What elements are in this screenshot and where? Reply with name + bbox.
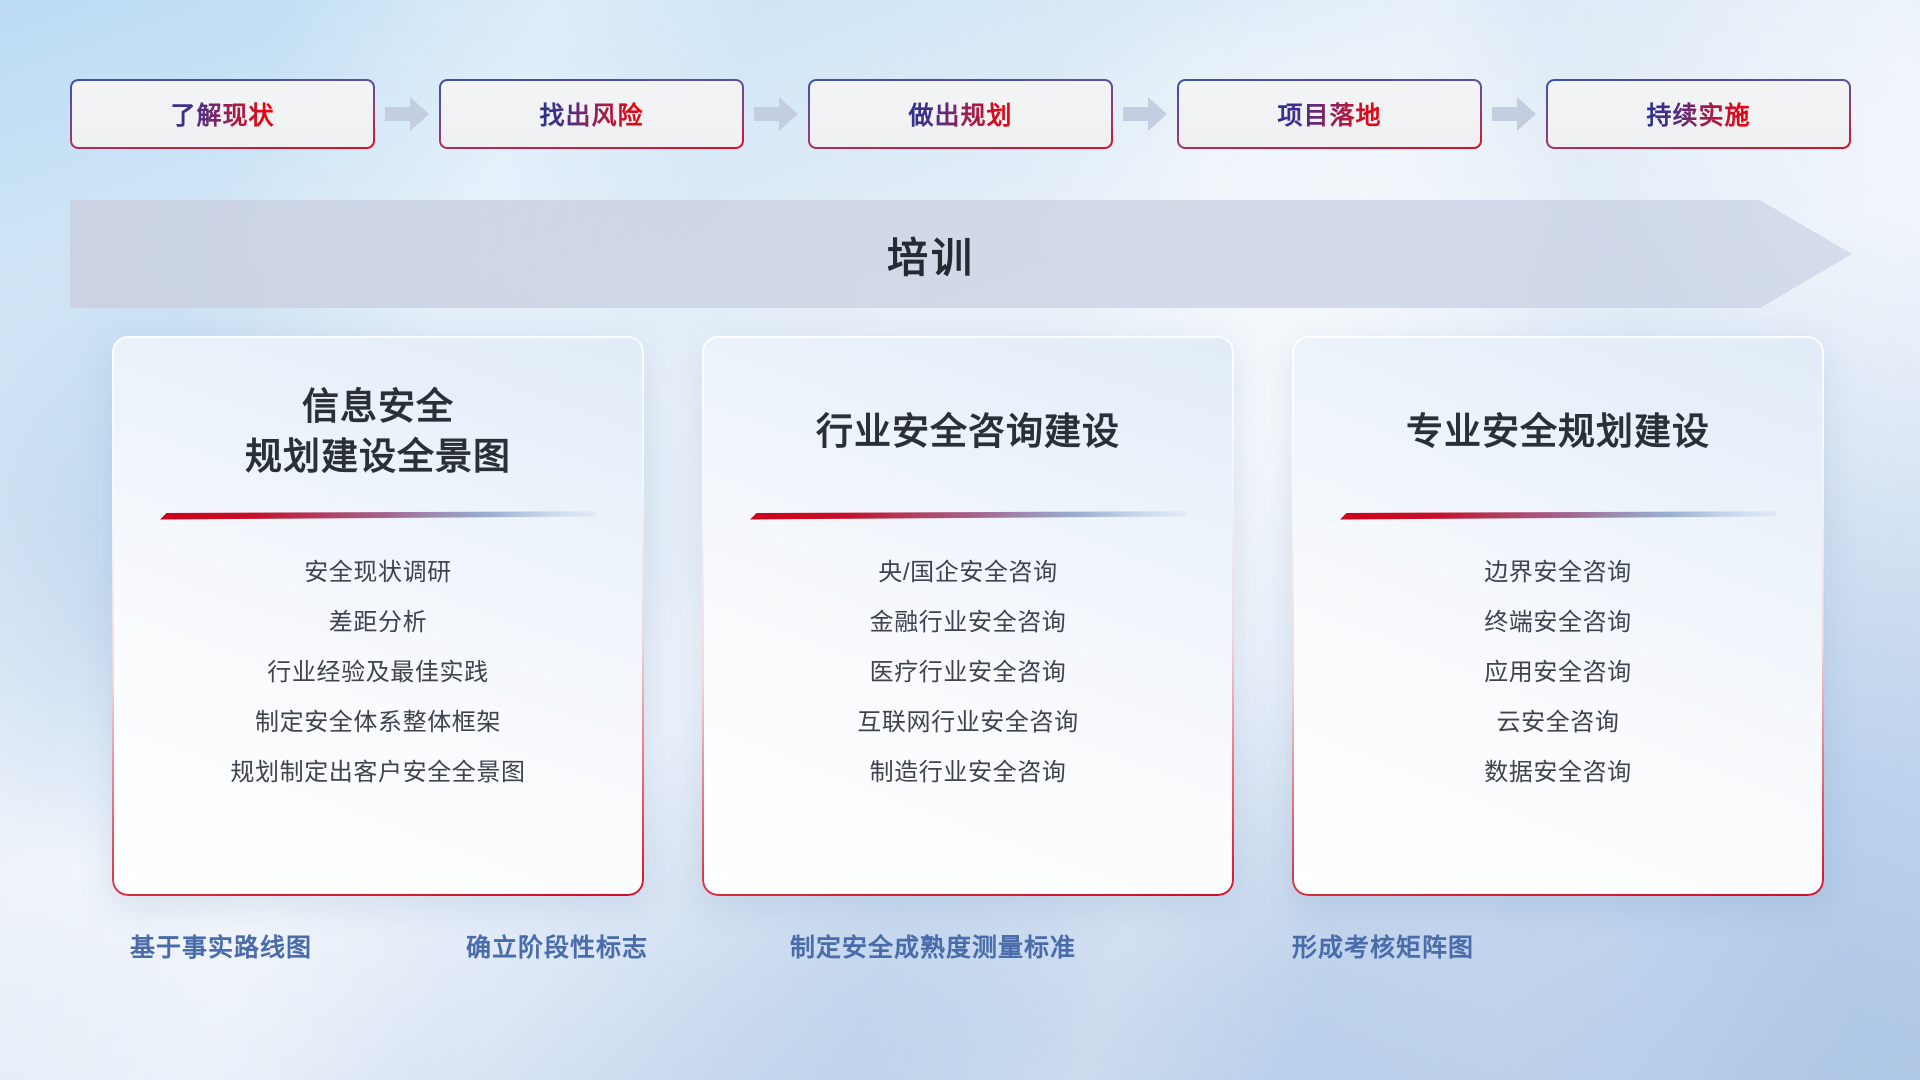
step-arrow-icon-1 bbox=[375, 94, 439, 134]
step-box-2[interactable]: 找出风险 bbox=[439, 79, 744, 149]
card-3[interactable]: 专业安全规划建设 边界安全咨询 bbox=[1292, 336, 1824, 896]
list-item: 金融行业安全咨询 bbox=[702, 598, 1234, 648]
step-label-1: 了解现状 bbox=[170, 96, 274, 132]
footer-label-2: 确立阶段性标志 bbox=[466, 928, 648, 964]
list-item: 应用安全咨询 bbox=[1292, 648, 1824, 698]
card-3-title: 专业安全规划建设 bbox=[1388, 382, 1728, 482]
step-arrow-icon-3 bbox=[1113, 94, 1177, 134]
card-1-title: 信息安全规划建设全景图 bbox=[227, 382, 529, 482]
process-step-row: 了解现状 找出风险 做出规划 项目落地 持续实施 bbox=[70, 78, 1850, 150]
list-item: 行业经验及最佳实践 bbox=[112, 648, 644, 698]
step-box-1[interactable]: 了解现状 bbox=[70, 79, 375, 149]
card-2[interactable]: 行业安全咨询建设 央/国企安全咨询 bbox=[702, 336, 1234, 896]
step-arrow-icon-4 bbox=[1482, 94, 1546, 134]
footer-label-4: 形成考核矩阵图 bbox=[1292, 928, 1474, 964]
banner-title: 培训 bbox=[70, 200, 1852, 308]
list-item: 数据安全咨询 bbox=[1292, 748, 1824, 798]
step-label-5: 持续实施 bbox=[1646, 96, 1750, 132]
card-3-list: 边界安全咨询 终端安全咨询 应用安全咨询 云安全咨询 数据安全咨询 bbox=[1292, 548, 1824, 798]
list-item: 规划制定出客户安全全景图 bbox=[112, 748, 644, 798]
footer-label-3: 制定安全成熟度测量标准 bbox=[790, 928, 1076, 964]
list-item: 央/国企安全咨询 bbox=[702, 548, 1234, 598]
card-group: 信息安全规划建设全景图 安全现状调研 bbox=[112, 336, 1824, 896]
step-box-5[interactable]: 持续实施 bbox=[1546, 79, 1851, 149]
card-1[interactable]: 信息安全规划建设全景图 安全现状调研 bbox=[112, 336, 644, 896]
list-item: 差距分析 bbox=[112, 598, 644, 648]
card-1-divider bbox=[160, 510, 596, 522]
step-box-3[interactable]: 做出规划 bbox=[808, 79, 1113, 149]
list-item: 互联网行业安全咨询 bbox=[702, 698, 1234, 748]
card-1-list: 安全现状调研 差距分析 行业经验及最佳实践 制定安全体系整体框架 规划制定出客户… bbox=[112, 548, 644, 798]
card-2-list: 央/国企安全咨询 金融行业安全咨询 医疗行业安全咨询 互联网行业安全咨询 制造行… bbox=[702, 548, 1234, 798]
slide-canvas: 了解现状 找出风险 做出规划 项目落地 持续实施 bbox=[0, 0, 1920, 1080]
list-item: 安全现状调研 bbox=[112, 548, 644, 598]
step-label-3: 做出规划 bbox=[908, 96, 1012, 132]
card-2-divider bbox=[750, 510, 1186, 522]
step-label-4: 项目落地 bbox=[1277, 96, 1381, 132]
step-arrow-icon-2 bbox=[744, 94, 808, 134]
list-item: 制造行业安全咨询 bbox=[702, 748, 1234, 798]
footer-label-row: 基于事实路线图 确立阶段性标志 制定安全成熟度测量标准 形成考核矩阵图 bbox=[0, 928, 1920, 972]
card-3-divider bbox=[1340, 510, 1776, 522]
list-item: 医疗行业安全咨询 bbox=[702, 648, 1234, 698]
footer-label-1: 基于事实路线图 bbox=[130, 928, 312, 964]
list-item: 制定安全体系整体框架 bbox=[112, 698, 644, 748]
step-label-2: 找出风险 bbox=[539, 96, 643, 132]
list-item: 终端安全咨询 bbox=[1292, 598, 1824, 648]
step-box-4[interactable]: 项目落地 bbox=[1177, 79, 1482, 149]
list-item: 边界安全咨询 bbox=[1292, 548, 1824, 598]
training-banner: 培训 bbox=[70, 200, 1852, 308]
list-item: 云安全咨询 bbox=[1292, 698, 1824, 748]
card-2-title: 行业安全咨询建设 bbox=[798, 382, 1138, 482]
